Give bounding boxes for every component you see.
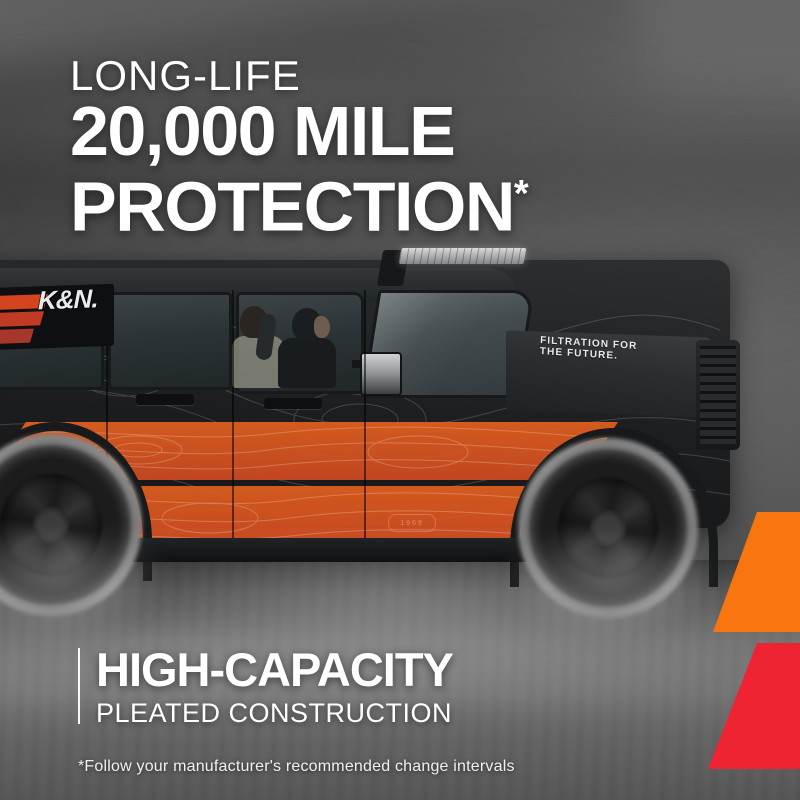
rear-wheel-dust (0, 536, 171, 642)
subhead-title: HIGH-CAPACITY (96, 646, 738, 693)
red-chevron-shape (695, 643, 800, 769)
ad-canvas: 1969 K&N. FILTRATION FOR THE FUTURE. (0, 0, 800, 800)
door-seam (364, 290, 366, 540)
subhead-subtitle: PLEATED CONSTRUCTION (96, 697, 738, 729)
door-badge: 1969 (388, 514, 436, 532)
footnote-marker: * (514, 173, 529, 215)
door-handle (264, 398, 322, 409)
footnote-text: *Follow your manufacturer's recommended … (78, 758, 515, 776)
subhead-block: HIGH-CAPACITY PLEATED CONSTRUCTION (78, 646, 738, 729)
door-seam (232, 290, 234, 546)
light-bar-grid (399, 248, 527, 264)
roof-light-bar (399, 248, 527, 264)
orange-chevron-shape (700, 512, 800, 632)
headline-line-1: 20,000 MILE (70, 100, 760, 163)
kn-logo: K&N. (0, 284, 114, 350)
headline-line-2-text: PROTECTION (70, 167, 514, 245)
subhead-inner: HIGH-CAPACITY PLEATED CONSTRUCTION (96, 646, 738, 729)
front-wheel (518, 438, 698, 618)
headline-line-2: PROTECTION* (70, 163, 760, 238)
subhead-rule (78, 648, 80, 724)
door-handle (136, 394, 194, 405)
headline-block: LONG-LIFE 20,000 MILE PROTECTION* (70, 54, 760, 238)
vehicle: 1969 K&N. FILTRATION FOR THE FUTURE. (0, 238, 800, 658)
kn-bar (0, 329, 34, 345)
front-wheel-dust (496, 539, 726, 643)
kn-logo-text: K&N. (38, 286, 98, 312)
